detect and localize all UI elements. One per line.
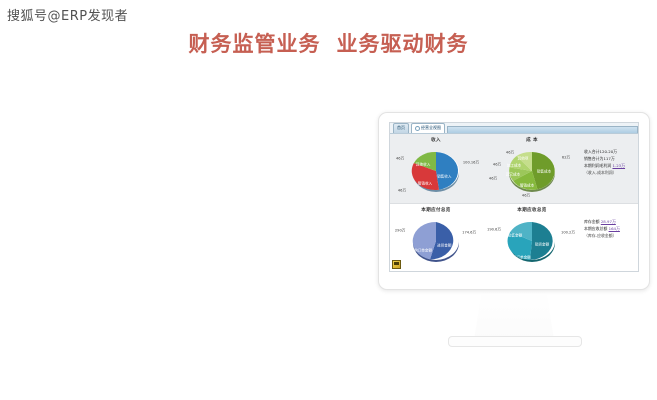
panel-revenue: 收入 销售收入 管销收入 其他收入	[390, 134, 482, 203]
panel-payable: 本期应付总览 进货金额 采购订单金额 174.6万 290万	[390, 204, 482, 272]
revenue-value-label-1: 46万	[398, 189, 406, 194]
cost-summary-highlight: 1.23万	[612, 163, 625, 168]
revenue-slice-label-1: 管销收入	[418, 181, 432, 186]
payable-slice-label-1: 采购订单金额	[410, 249, 432, 254]
cost-value-label-4: 46万	[506, 151, 514, 156]
payable-pie-chart[interactable]: 进货金额 采购订单金额 174.6万 290万	[390, 213, 482, 272]
cost-slice-label-2: 其它成本	[506, 173, 520, 178]
monitor-neck	[474, 289, 554, 340]
cost-pie-chart[interactable]: 销售成本 管销成本 其它成本 加工成本 其他项 62万 46万 46万 46万 …	[482, 143, 582, 203]
tab-dot-icon	[415, 126, 420, 131]
payable-pie-svg	[408, 215, 464, 267]
dashboard-board: 收入 销售收入 管销收入 其他收入	[390, 134, 638, 272]
dashboard-row-top: 收入 销售收入 管销收入 其他收入	[390, 134, 638, 204]
payable-slice-label-0: 进货金额	[437, 244, 451, 249]
receivable-highlight-2: 164万	[609, 226, 620, 231]
cost-slice-label-4: 其他项	[518, 156, 529, 161]
receivable-summary-line-2: （库存-应收金额）	[584, 232, 620, 239]
cost-slice-label-1: 管销成本	[520, 184, 534, 189]
cost-summary-box: 收入合计120.20万 销售合计为117万 本期利润毛利润 1.23万 （收入-…	[582, 134, 638, 203]
tab-overview[interactable]: 经营全视图	[411, 123, 445, 133]
document-icon[interactable]	[392, 260, 401, 269]
page-title: 财务监管业务业务驱动财务	[0, 28, 657, 58]
receivable-pie-chart[interactable]: 销货金额 销售订单金额 销售金额 100.2万 190.6万	[482, 213, 582, 272]
receivable-summary-text: 库存金额 28.97万 本期应收总额 164万 （库存-应收金额）	[582, 218, 620, 239]
panel-cost: 成 本 销售成本 管	[482, 134, 582, 203]
monitor-foot	[448, 336, 582, 347]
cost-summary-line-2: 本期利润毛利润 1.23万	[584, 162, 625, 169]
receivable-highlight-1: 28.97万	[601, 219, 616, 224]
dashboard-row-bottom: 本期应付总览 进货金额 采购订单金额 174.6万 290万	[390, 204, 638, 272]
payable-value-label-0: 174.6万	[462, 230, 476, 235]
receivable-summary-line-1: 本期应收总额 164万	[584, 225, 620, 232]
tab-bar: 首页 经营全视图	[390, 123, 638, 134]
page-title-right: 业务驱动财务	[337, 32, 469, 56]
receivable-value-label-0: 100.2万	[561, 230, 575, 235]
tab-home-label: 首页	[397, 125, 405, 130]
tab-bar-filler	[447, 126, 638, 133]
cost-value-label-3: 46万	[493, 163, 501, 168]
monitor-screen: 首页 经营全视图 收入	[389, 122, 639, 272]
cost-value-label-0: 62万	[562, 156, 570, 161]
receivable-value-label-1: 190.6万	[487, 228, 501, 233]
monitor-bezel: 首页 经营全视图 收入	[378, 112, 650, 290]
revenue-value-label-0: 100.16万	[463, 160, 479, 165]
receivable-slice-label-0: 销货金额	[535, 243, 549, 248]
receivable-summary-box: 库存金额 28.97万 本期应收总额 164万 （库存-应收金额）	[582, 204, 638, 272]
receivable-summary-line-0: 库存金额 28.97万	[584, 218, 620, 225]
watermark: 搜狐号@ERP发现者	[7, 5, 128, 24]
receivable-slice-label-1: 销售金额	[508, 233, 522, 238]
cost-slice-label-3: 加工成本	[507, 163, 521, 168]
tab-overview-label: 经营全视图	[421, 125, 441, 130]
payable-value-label-1: 290万	[395, 229, 405, 234]
cost-summary-line-0: 收入合计120.20万	[584, 148, 625, 155]
receivable-slice-label-2: 销售订单金额	[509, 256, 531, 261]
cost-summary-line-1: 销售合计为117万	[584, 155, 625, 162]
revenue-pie-chart[interactable]: 销售收入 管销收入 其他收入 100.16万 46万 46万	[390, 143, 482, 203]
revenue-slice-label-2: 其他收入	[416, 162, 430, 167]
cost-summary-line-3: （收入-成本利润）	[584, 169, 625, 176]
revenue-slice-label-0: 销售收入	[437, 174, 451, 179]
revenue-value-label-2: 46万	[396, 157, 404, 162]
monitor-mockup: 首页 经营全视图 收入	[378, 112, 650, 362]
tab-home[interactable]: 首页	[393, 123, 409, 133]
cost-slice-label-0: 销售成本	[537, 169, 551, 174]
cost-summary-text: 收入合计120.20万 销售合计为117万 本期利润毛利润 1.23万 （收入-…	[582, 148, 625, 176]
cost-value-label-2: 46万	[489, 177, 497, 182]
panel-receivable: 本期应收总览 销货金额 销售订单金额 销售金额	[482, 204, 582, 272]
cost-value-label-1: 46万	[522, 194, 530, 199]
page-title-left: 财务监管业务	[189, 32, 321, 56]
revenue-pie-svg	[408, 145, 464, 197]
